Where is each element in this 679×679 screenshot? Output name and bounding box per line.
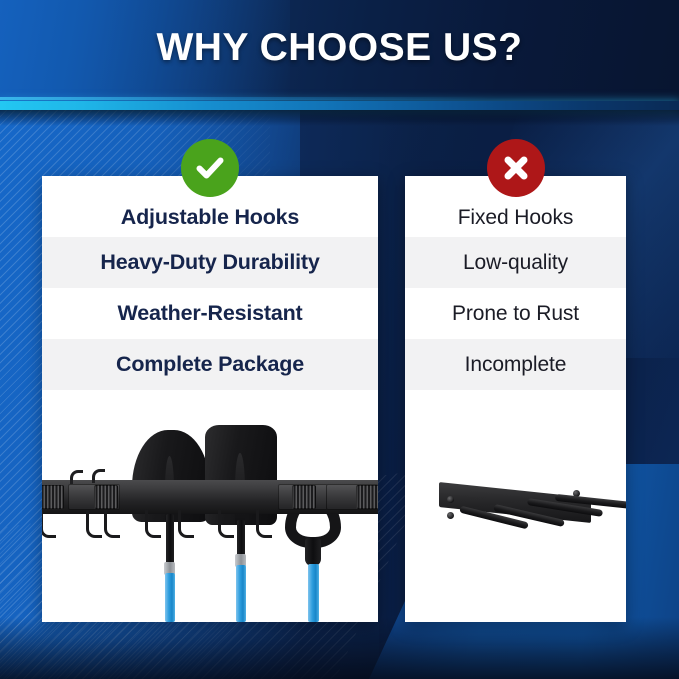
rail-hook-j bbox=[104, 510, 120, 538]
list-item: Complete Package bbox=[42, 339, 378, 390]
pros-feature-list: Adjustable Hooks Heavy-Duty Durability W… bbox=[42, 176, 378, 390]
list-item: Prone to Rust bbox=[405, 288, 626, 339]
rail-hook-j bbox=[178, 510, 194, 538]
hook-bar-screw bbox=[447, 496, 454, 503]
pros-item-label: Complete Package bbox=[116, 352, 304, 377]
rail-hook-j bbox=[42, 510, 56, 538]
rail-hook-up bbox=[70, 470, 83, 484]
cons-feature-list: Fixed Hooks Low-quality Prone to Rust In… bbox=[405, 176, 626, 390]
tool-handle-blue bbox=[308, 564, 319, 622]
x-circle-icon bbox=[487, 139, 545, 197]
cons-item-label: Prone to Rust bbox=[452, 302, 579, 326]
hook-bar-plate bbox=[439, 482, 591, 523]
rail-rib-segment bbox=[292, 485, 316, 509]
cons-product-image bbox=[405, 442, 626, 622]
shovel-shaft bbox=[166, 514, 174, 564]
cons-item-label: Fixed Hooks bbox=[458, 206, 574, 230]
shovel-handle-blue bbox=[165, 573, 175, 622]
list-item: Heavy-Duty Durability bbox=[42, 237, 378, 288]
cons-item-label: Incomplete bbox=[465, 353, 567, 377]
list-item: Incomplete bbox=[405, 339, 626, 390]
pros-item-label: Adjustable Hooks bbox=[121, 205, 299, 230]
background-bottom-vignette bbox=[0, 617, 679, 679]
background-streak-highlight bbox=[0, 97, 679, 100]
list-item: Low-quality bbox=[405, 237, 626, 288]
page-title: WHY CHOOSE US? bbox=[0, 26, 679, 70]
rail-hook-j bbox=[218, 510, 234, 538]
rail-rib-segment bbox=[94, 485, 118, 509]
list-item: Weather-Resistant bbox=[42, 288, 378, 339]
rail-hook-up bbox=[92, 469, 105, 483]
rail-hook-j bbox=[256, 510, 272, 538]
cons-item-label: Low-quality bbox=[463, 251, 568, 275]
hook-bar-screw bbox=[447, 512, 454, 519]
pros-product-image bbox=[42, 422, 378, 622]
background-streak-shadow bbox=[0, 110, 679, 126]
check-circle-icon bbox=[181, 139, 239, 197]
background-cyan-streak bbox=[0, 101, 679, 110]
rail-rib-segment bbox=[42, 485, 64, 509]
cons-panel: Fixed Hooks Low-quality Prone to Rust In… bbox=[405, 176, 626, 622]
shovel-handle-blue bbox=[236, 565, 246, 622]
pros-panel: Adjustable Hooks Heavy-Duty Durability W… bbox=[42, 176, 378, 622]
pros-item-label: Heavy-Duty Durability bbox=[100, 250, 319, 275]
rail-hook-j bbox=[145, 510, 161, 538]
d-handle-stem bbox=[305, 538, 321, 566]
rail-hook-j bbox=[86, 510, 102, 538]
rail-rib-segment bbox=[356, 485, 378, 509]
pros-item-label: Weather-Resistant bbox=[118, 301, 303, 326]
shovel-shaft bbox=[237, 520, 245, 556]
